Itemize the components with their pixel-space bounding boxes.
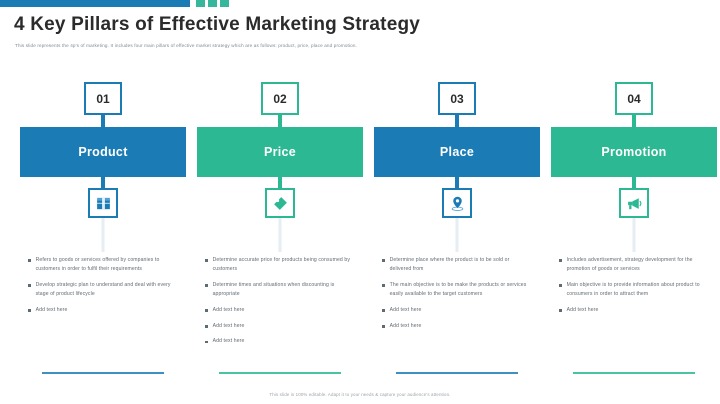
pillar-baseline-3	[396, 372, 518, 374]
pillar-baseline-4	[573, 372, 695, 374]
bullet-text: Determine accurate price for products be…	[213, 256, 355, 274]
bullet-text: Main objective is to provide information…	[567, 281, 709, 299]
pillar-icon-box-2	[265, 188, 295, 218]
package-box-icon	[95, 195, 112, 212]
page-title: 4 Key Pillars of Effective Marketing Str…	[14, 14, 420, 36]
connector-icon-list-3	[456, 218, 459, 252]
pillar-banner-4[interactable]: Promotion	[551, 127, 717, 177]
pillar-bullet-list-1: Refers to goods or services offered by c…	[20, 250, 186, 355]
bullet-dot-icon	[382, 259, 385, 262]
bullet-text: Add text here	[390, 306, 422, 315]
page-subtitle: This slide represents the 4p's of market…	[15, 43, 357, 48]
bullet-dot-icon	[559, 284, 562, 287]
pillar-label-3: Place	[440, 145, 474, 159]
list-item: Add text here	[28, 306, 178, 315]
bullet-text: The main objective is to be make the pro…	[390, 281, 532, 299]
pillar-icon-box-4	[619, 188, 649, 218]
list-item: Add text here	[205, 306, 355, 315]
pillar-label-4: Promotion	[601, 145, 666, 159]
connector-badge-banner-4	[632, 114, 636, 128]
pillar-number-4: 04	[627, 92, 640, 106]
bullet-dot-icon	[559, 259, 562, 262]
bullet-text: Add text here	[36, 306, 68, 315]
pillar-icon-box-3	[442, 188, 472, 218]
pillar-number-3: 03	[450, 92, 463, 106]
list-item: Determine place where the product is to …	[382, 256, 532, 274]
bullet-dot-icon	[382, 284, 385, 287]
bullet-dot-icon	[205, 284, 208, 287]
list-item: Develop strategic plan to understand and…	[28, 281, 178, 299]
topbar-dash-3	[220, 0, 229, 7]
pillar-bullet-list-3: Determine place where the product is to …	[374, 250, 540, 355]
pillar-label-1: Product	[78, 145, 127, 159]
list-item: Add text here	[205, 337, 355, 346]
pillar-banner-2[interactable]: Price	[197, 127, 363, 177]
footer-note: This slide is 100% editable. Adapt it to…	[0, 392, 720, 397]
connector-icon-list-4	[633, 218, 636, 252]
list-item: Refers to goods or services offered by c…	[28, 256, 178, 274]
bullet-text: Add text here	[390, 322, 422, 331]
pillar-bullet-list-2: Determine accurate price for products be…	[197, 250, 363, 361]
bullet-dot-icon	[382, 325, 385, 328]
pillar-number-badge-2: 02	[261, 82, 299, 115]
pillar-baseline-2	[219, 372, 341, 374]
bullet-dot-icon	[382, 309, 385, 312]
price-tag-icon	[272, 195, 289, 212]
connector-icon-list-2	[279, 218, 282, 252]
bullet-text: Determine place where the product is to …	[390, 256, 532, 274]
bullet-dot-icon	[559, 309, 562, 312]
bullet-text: Add text here	[213, 337, 245, 346]
topbar-dash-1	[196, 0, 205, 7]
pillar-label-2: Price	[264, 145, 296, 159]
bullet-text: Add text here	[213, 322, 245, 331]
pillar-icon-box-1	[88, 188, 118, 218]
list-item: Determine times and situations when disc…	[205, 281, 355, 299]
bullet-text: Determine times and situations when disc…	[213, 281, 355, 299]
list-item: Main objective is to provide information…	[559, 281, 709, 299]
slide-canvas: 4 Key Pillars of Effective Marketing Str…	[0, 0, 720, 404]
bullet-dot-icon	[28, 259, 31, 262]
connector-badge-banner-3	[455, 114, 459, 128]
topbar-dash-2	[208, 0, 217, 7]
bullet-text: Includes advertisement, strategy develop…	[567, 256, 709, 274]
megaphone-icon	[626, 195, 643, 212]
pillar-bullet-list-4: Includes advertisement, strategy develop…	[551, 250, 717, 355]
pillar-banner-3[interactable]: Place	[374, 127, 540, 177]
pillar-number-badge-4: 04	[615, 82, 653, 115]
list-item: Includes advertisement, strategy develop…	[559, 256, 709, 274]
topbar-stripe	[0, 0, 190, 7]
connector-badge-banner-1	[101, 114, 105, 128]
pillar-number-badge-3: 03	[438, 82, 476, 115]
list-item: Add text here	[382, 322, 532, 331]
bullet-text: Develop strategic plan to understand and…	[36, 281, 178, 299]
bullet-text: Add text here	[213, 306, 245, 315]
pillar-number-badge-1: 01	[84, 82, 122, 115]
bullet-text: Add text here	[567, 306, 599, 315]
bullet-dot-icon	[28, 284, 31, 287]
bullet-dot-icon	[205, 309, 208, 312]
map-pin-icon	[449, 195, 466, 212]
list-item: Add text here	[559, 306, 709, 315]
connector-badge-banner-2	[278, 114, 282, 128]
list-item: The main objective is to be make the pro…	[382, 281, 532, 299]
pillars-container: 01 Product Refers to goods or service	[0, 78, 720, 388]
connector-icon-list-1	[102, 218, 105, 252]
bullet-dot-icon	[205, 341, 208, 344]
top-decoration-bar	[0, 0, 720, 9]
pillar-number-1: 01	[96, 92, 109, 106]
list-item: Add text here	[205, 322, 355, 331]
bullet-text: Refers to goods or services offered by c…	[36, 256, 178, 274]
list-item: Determine accurate price for products be…	[205, 256, 355, 274]
list-item: Add text here	[382, 306, 532, 315]
pillar-number-2: 02	[273, 92, 286, 106]
bullet-dot-icon	[205, 259, 208, 262]
pillar-banner-1[interactable]: Product	[20, 127, 186, 177]
pillar-baseline-1	[42, 372, 164, 374]
bullet-dot-icon	[28, 309, 31, 312]
bullet-dot-icon	[205, 325, 208, 328]
